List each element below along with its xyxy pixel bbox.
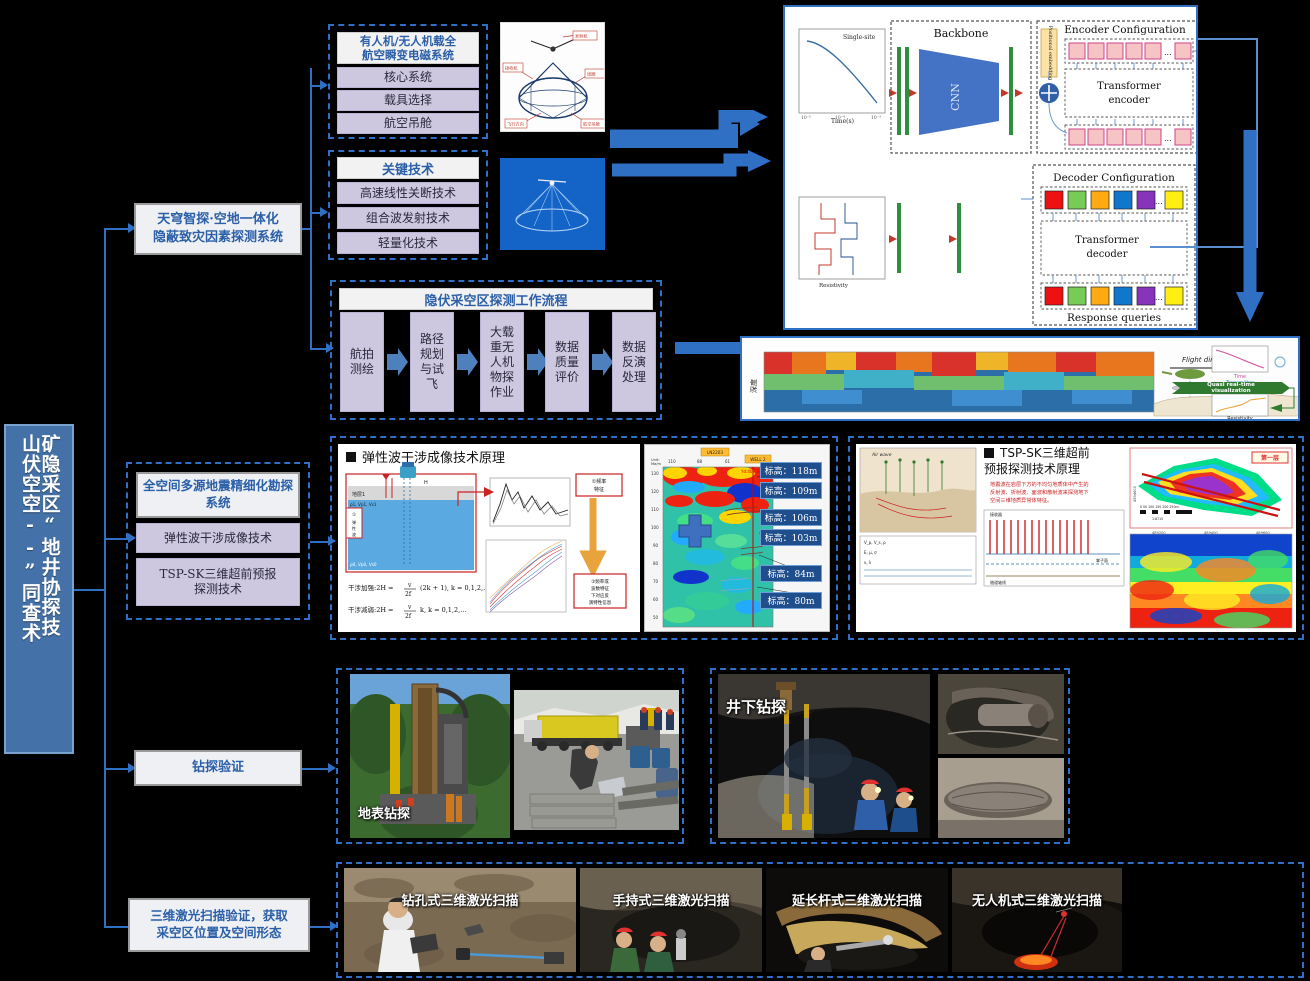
laser-caption-0: 钻孔式三维激光扫描 — [401, 890, 518, 909]
svg-text:Backbone: Backbone — [934, 27, 989, 40]
arrow-drill-to-panel — [328, 763, 336, 773]
svg-text:100: 100 — [651, 525, 659, 530]
svg-text:②频率或: ②频率或 — [591, 578, 609, 585]
svg-text:120: 120 — [651, 489, 659, 494]
svg-text:2f: 2f — [405, 591, 412, 598]
svg-text:60: 60 — [653, 597, 659, 602]
svg-text:Positional embedding: Positional embedding — [1047, 26, 1053, 81]
chevron-icon-0 — [387, 346, 409, 378]
node-aerial-system[interactable]: 天穹智探·空地一体化 隐蔽致灾因素探测系统 — [134, 203, 302, 255]
svg-text:...: ... — [1164, 134, 1172, 143]
svg-text:80: 80 — [653, 561, 659, 566]
svg-text:70: 70 — [653, 579, 659, 584]
svg-text:110: 110 — [668, 459, 676, 464]
svg-text:反射波、折射波、面波和散射波来探测地下: 反射波、折射波、面波和散射波来探测地下 — [990, 488, 1089, 496]
svg-text:encoder: encoder — [1108, 95, 1149, 106]
svg-text:110: 110 — [651, 507, 659, 512]
svg-text:(2k + 1), k = 0,1,2,…: (2k + 1), k = 0,1,2,… — [420, 584, 490, 592]
svg-text:地层1: 地层1 — [352, 491, 365, 498]
tem-group-header: 有人机/无人机载全 航空瞬变电磁系统 — [337, 32, 479, 64]
workflow-step-2[interactable]: 大载 重无 人机 物探 作业 — [480, 312, 524, 412]
laser-caption-2: 延长杆式三维激光扫描 — [792, 890, 922, 909]
svg-text:飞行方向: 飞行方向 — [507, 121, 524, 128]
svg-text:弹: 弹 — [352, 519, 356, 525]
ml-architecture-panel: Single-site Time(s) 10⁻⁵10⁻⁴10⁻³ Resisti… — [783, 5, 1198, 330]
svg-text:2f: 2f — [405, 613, 412, 620]
svg-text:Transformer: Transformer — [1075, 235, 1139, 246]
workflow-step-4[interactable]: 数据 反演 处理 — [612, 312, 656, 412]
svg-text:深度: 深度 — [749, 379, 758, 393]
arrow-to-keytech — [320, 207, 328, 217]
svg-text:k, k = 0,1,2,…: k, k = 0,1,2,… — [420, 606, 467, 614]
svg-text:130: 130 — [651, 471, 659, 476]
svg-text:Resistivity: Resistivity — [1227, 416, 1253, 421]
seismic-sub-0[interactable]: 弹性波干涉成像技术 — [136, 523, 300, 553]
node-laser-verify[interactable]: 三维激光扫描验证，获取 采空区位置及空间形态 — [128, 898, 310, 952]
svg-text:ρ1, Vp1, Vs1: ρ1, Vp1, Vs1 — [350, 502, 377, 507]
svg-text:0 50 100 150 200 250m: 0 50 100 150 200 250m — [1140, 505, 1179, 509]
svg-text:线圈: 线圈 — [587, 71, 595, 78]
svg-text:10⁻³: 10⁻³ — [871, 115, 881, 121]
core-sampling-photo — [514, 690, 679, 830]
borehole-photo-top — [938, 674, 1064, 754]
svg-text:Resistivity: Resistivity — [819, 283, 849, 289]
uav-schematic-photo: 发射机接收机 线圈飞行方向 航空吊舱 — [500, 22, 605, 132]
tsp-principle-figure: Air wave V_p, V_s, ρ E, μ, σ ν, λ TSP-SK… — [856, 444, 1296, 632]
svg-text:10⁻⁴: 10⁻⁴ — [835, 115, 845, 121]
borehole-photo-bottom — [938, 758, 1064, 838]
svg-text:特征: 特征 — [594, 486, 604, 493]
fat-arrow-to-ml-2 — [612, 148, 772, 208]
elevation-label-4: 标高：84m — [760, 565, 822, 582]
branch-aerial-stub — [302, 228, 312, 230]
svg-text:发射机: 发射机 — [575, 33, 588, 40]
node-drilling-verify[interactable]: 钻探验证 — [134, 750, 302, 786]
elevation-label-2: 标高：106m — [760, 509, 822, 526]
chevron-icon-3 — [592, 346, 614, 378]
svg-text:地震波在岩层下方的不均匀地质体中产生的: 地震波在岩层下方的不均匀地质体中产生的 — [990, 480, 1089, 488]
svg-text:Single-site: Single-site — [843, 34, 876, 41]
svg-text:隧道轴线: 隧道轴线 — [990, 579, 1006, 585]
svg-text:E, μ, σ: E, μ, σ — [864, 550, 877, 555]
svg-text:干涉加强:2H =: 干涉加强:2H = — [348, 583, 394, 592]
laser-caption-1: 手持式三维激光扫描 — [612, 890, 729, 909]
workflow-step-1[interactable]: 路径 规划 与试 飞 — [410, 312, 454, 412]
node-seismic-system[interactable]: 全空间多源地震精细化勘探系统 — [136, 472, 300, 518]
svg-text:干涉减弱:2H =: 干涉减弱:2H = — [348, 605, 394, 614]
svg-text:88: 88 — [697, 459, 703, 464]
seismic-principle-figure: 弹性波干涉成像技术原理 地层1 H ρ0, Vp0, Vs0 ρ1, Vp1, … — [338, 444, 640, 632]
laser-photo-1: 手持式三维激光扫描 — [580, 868, 762, 972]
svg-text:接收器: 接收器 — [990, 511, 1002, 517]
elevation-label-3: 标高：103m — [760, 529, 822, 546]
tem-item-0[interactable]: 核心系统 — [337, 67, 479, 88]
underground-drilling-photo: 井下钻探 — [718, 674, 930, 838]
keytech-item-0[interactable]: 高速线性关断技术 — [337, 182, 479, 204]
chevron-icon-1 — [457, 346, 479, 378]
svg-text:Transformer: Transformer — [1097, 81, 1161, 92]
underground-drilling-caption: 井下钻探 — [726, 696, 786, 717]
svg-text:接收机: 接收机 — [505, 65, 518, 72]
svg-text:H: H — [424, 480, 428, 486]
svg-text:Encoder Configuration: Encoder Configuration — [1064, 24, 1186, 36]
laser-photo-2: 延长杆式三维激光扫描 — [766, 868, 948, 972]
tem-item-2[interactable]: 航空吊舱 — [337, 113, 479, 134]
svg-text:弹性波干涉成像技术原理: 弹性波干涉成像技术原理 — [362, 451, 505, 466]
keytech-item-2[interactable]: 轻量化技术 — [337, 232, 479, 254]
workflow-step-3[interactable]: 数据 质量 评价 — [545, 312, 589, 412]
laser-photo-0: 钻孔式三维激光扫描 — [344, 868, 576, 972]
keytech-group-header: 关键技术 — [337, 157, 479, 179]
svg-text:①频率: ①频率 — [592, 478, 606, 485]
spine-from-title — [74, 589, 106, 591]
svg-text:空间三维地质异常体特征。: 空间三维地质异常体特征。 — [990, 496, 1052, 504]
svg-text:V_p, V_s, ρ: V_p, V_s, ρ — [864, 540, 886, 545]
svg-text:10⁻⁵: 10⁻⁵ — [801, 115, 811, 121]
svg-text:Ma/m: Ma/m — [651, 462, 662, 466]
svg-text:...: ... — [1155, 293, 1163, 302]
branch-vertical-aerial — [310, 68, 312, 348]
keytech-item-1[interactable]: 组合波发射技术 — [337, 207, 479, 229]
ml-feedback-top — [1198, 38, 1258, 40]
svg-text:下对应反: 下对应反 — [591, 592, 609, 599]
arrow-to-tem — [320, 80, 328, 90]
workflow-header: 隐伏采空区探测工作流程 — [339, 288, 653, 310]
svg-text:航空吊舱: 航空吊舱 — [583, 121, 601, 128]
svg-text:...: ... — [1164, 48, 1172, 57]
svg-text:演特性信息: 演特性信息 — [589, 599, 612, 606]
laser-caption-3: 无人机式三维激光扫描 — [972, 890, 1102, 909]
svg-text:61: 61 — [725, 459, 731, 464]
uav-survey-visualization-panel: 深度 Flight direction Time Transmitter alt… — [740, 336, 1300, 421]
svg-text:CNN: CNN — [949, 83, 962, 111]
uav-coil-photo — [500, 158, 605, 250]
svg-text:掌子面: 掌子面 — [1096, 557, 1108, 563]
seismic-sub-1[interactable]: TSP-SK三维超前预报 探测技术 — [136, 558, 300, 606]
elevation-label-1: 标高：109m — [760, 482, 822, 499]
svg-text:Response queries: Response queries — [1067, 312, 1161, 324]
svg-text:LN2203: LN2203 — [707, 450, 723, 455]
svg-text:...: ... — [1155, 197, 1163, 206]
svg-text:v: v — [407, 604, 412, 611]
spine-vertical — [104, 228, 106, 928]
svg-text:ν, λ: ν, λ — [864, 560, 872, 565]
surface-drilling-caption: 地表钻探 — [358, 803, 410, 822]
tem-item-1[interactable]: 载具选择 — [337, 90, 479, 111]
svg-text:第一层: 第一层 — [1260, 454, 1279, 462]
elevation-label-0: 标高：118m — [760, 462, 822, 479]
svg-text:1:8715: 1:8715 — [1152, 517, 1163, 521]
svg-text:波: 波 — [352, 531, 356, 537]
page-title-col-right: 矿隐采区“地井协探技 — [39, 434, 59, 637]
svg-text:4594600: 4594600 — [1133, 485, 1137, 502]
page-title: 矿隐采区“地井协探技 山伏空空--”同查术 — [4, 424, 74, 754]
svg-text:性: 性 — [352, 525, 356, 531]
svg-text:TSP-SK三维超前: TSP-SK三维超前 — [999, 445, 1090, 460]
svg-text:预报探测技术原理: 预报探测技术原理 — [984, 461, 1080, 476]
fat-arrow-ml-to-uav — [1228, 130, 1284, 330]
svg-text:ρ0, Vp0, Vs0: ρ0, Vp0, Vs0 — [350, 562, 377, 567]
surface-drilling-photo: 地表钻探 — [350, 674, 510, 838]
elevation-label-5: 标高：80m — [760, 592, 822, 609]
workflow-step-0[interactable]: 航拍 测绘 — [340, 312, 384, 412]
svg-text:visualization: visualization — [1211, 388, 1250, 394]
svg-text:①: ① — [352, 512, 356, 518]
svg-text:Air wave: Air wave — [871, 452, 892, 458]
diagram-canvas: 矿隐采区“地井协探技 山伏空空--”同查术 天穹智探·空地一体化 隐蔽致灾因素探… — [0, 0, 1310, 981]
svg-text:50: 50 — [653, 615, 659, 620]
svg-text:波数特征: 波数特征 — [591, 585, 609, 592]
svg-text:decoder: decoder — [1086, 249, 1127, 260]
svg-text:90: 90 — [653, 543, 659, 548]
page-title-col-left: 山伏空空--”同查术 — [19, 434, 39, 643]
svg-text:v: v — [407, 582, 412, 589]
laser-photo-3: 无人机式三维激光扫描 — [952, 868, 1122, 972]
svg-text:Decoder Configuration: Decoder Configuration — [1053, 172, 1175, 184]
